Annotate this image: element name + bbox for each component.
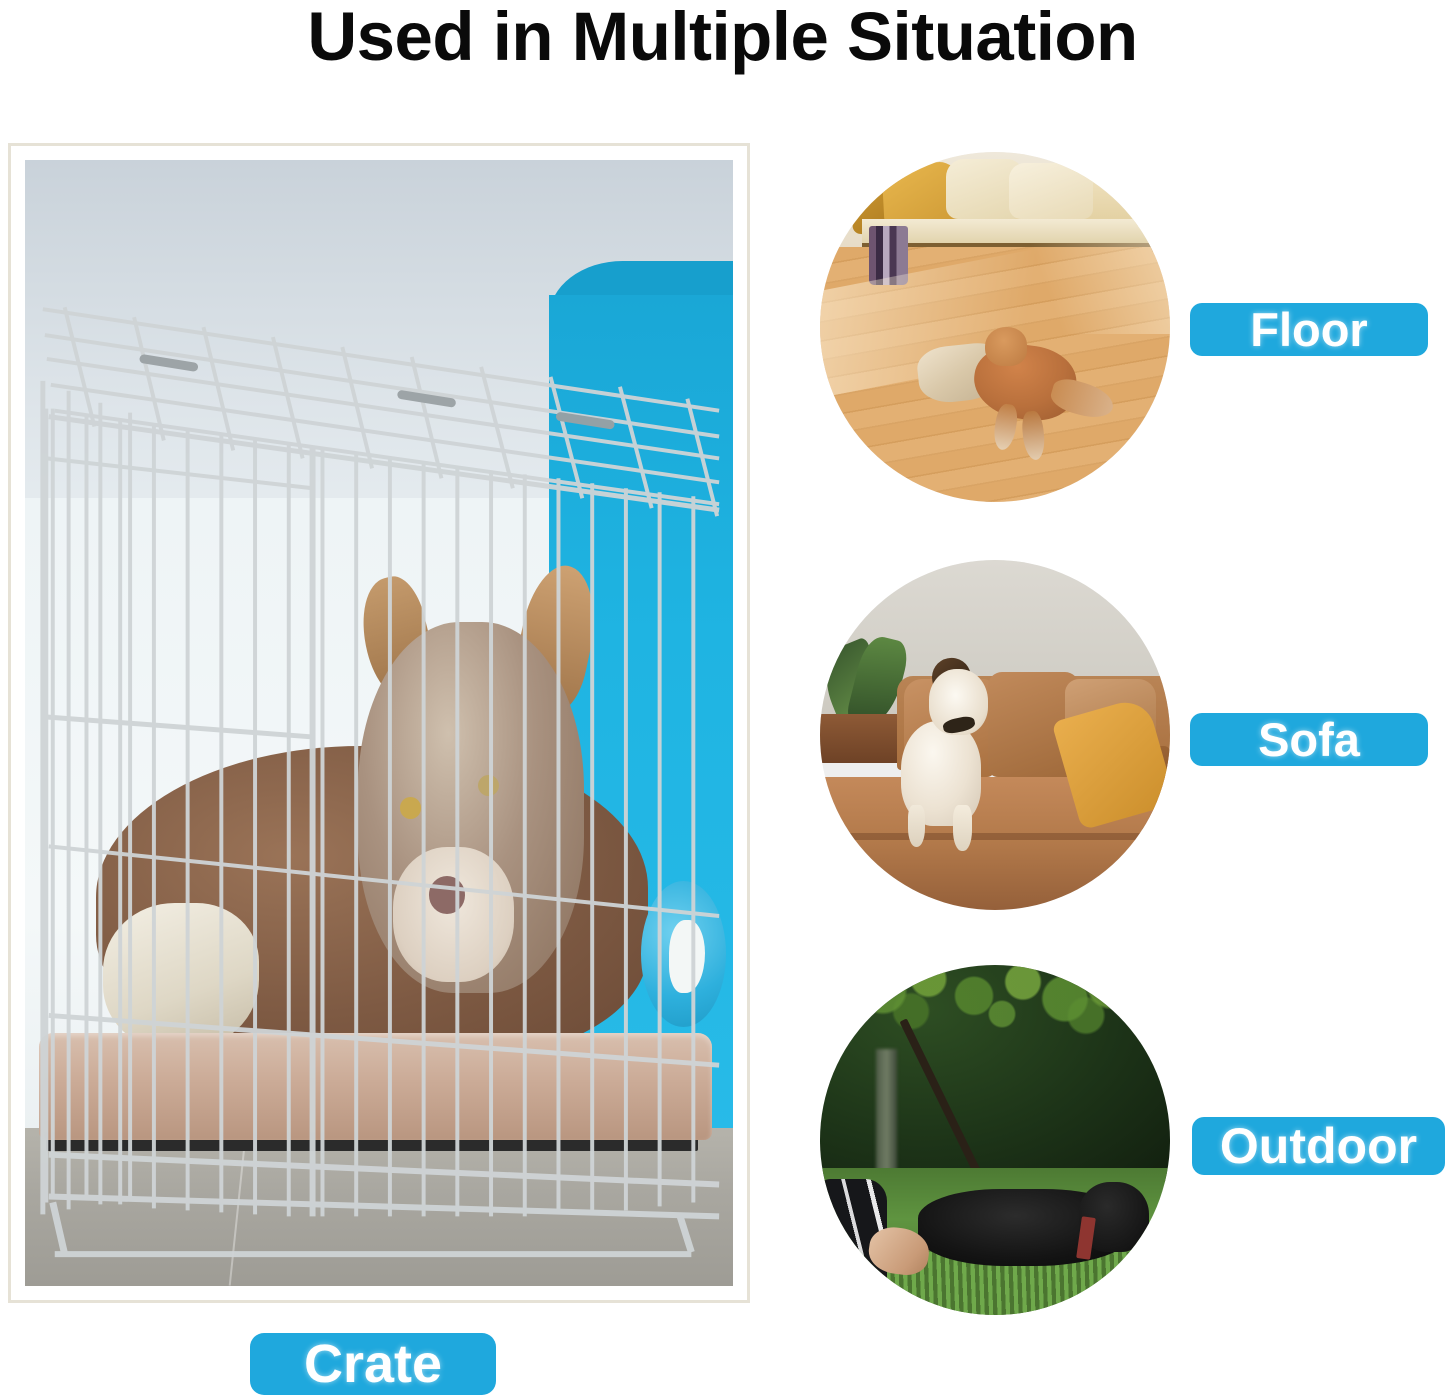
sofa-scene-dog-leg-2 [953, 805, 972, 851]
floor-scene [820, 152, 1170, 502]
outdoor-scene-leaves [820, 965, 1170, 1105]
sofa-scene-plant-pot [820, 714, 904, 763]
dog-eye-left [400, 797, 421, 818]
hero-photo-frame [8, 143, 750, 1303]
plush-pet-bed [39, 1033, 712, 1140]
page-title: Used in Multiple Situation [0, 0, 1445, 76]
floor-scene-cushion-3 [1009, 163, 1093, 219]
sofa-scene-seat-seam [820, 833, 1170, 840]
sofa-scene [820, 560, 1170, 910]
sofa-scene-dog-leg-1 [908, 805, 926, 847]
floor-scene-dog-head [985, 327, 1027, 366]
label-crate: Crate [250, 1333, 496, 1395]
dog-muzzle [393, 847, 513, 982]
plush-toy [103, 903, 259, 1049]
hero-photo-crate [25, 160, 733, 1286]
tile-floor [25, 1128, 733, 1286]
thumb-sofa [820, 560, 1170, 910]
label-outdoor: Outdoor [1192, 1117, 1445, 1175]
thumb-outdoor [820, 965, 1170, 1315]
label-floor: Floor [1190, 303, 1428, 356]
outdoor-scene [820, 965, 1170, 1315]
label-sofa: Sofa [1190, 713, 1428, 766]
floor-scene-sunlight-2 [995, 243, 1170, 334]
thumb-floor [820, 152, 1170, 502]
